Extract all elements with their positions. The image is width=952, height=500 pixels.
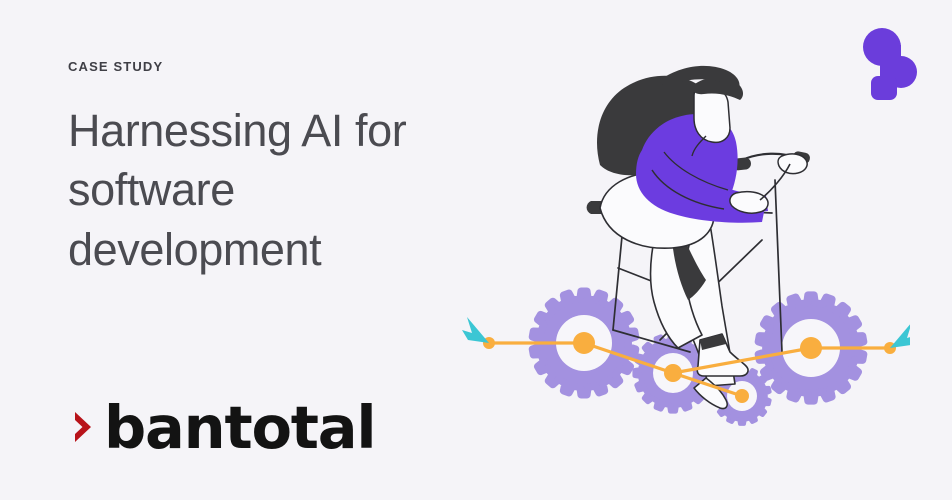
gear-large-left-hub-dot — [573, 332, 595, 354]
bantotal-wordmark: bantotal — [104, 398, 375, 457]
arrow-left-head — [462, 317, 489, 343]
gear-small-hub-dot — [735, 389, 749, 403]
chevron-right-icon — [70, 404, 98, 450]
page-title: Harnessing AI for software development — [68, 101, 498, 279]
text-column: CASE STUDY Harnessing AI for software de… — [68, 60, 498, 279]
eyebrow-label: CASE STUDY — [68, 60, 498, 73]
headline-line-2: software — [68, 164, 235, 215]
gear-medium-hub-dot — [664, 364, 682, 382]
gear-large-right-hub-dot — [800, 337, 822, 359]
bantotal-logo: bantotal — [70, 392, 375, 462]
illustration-woman-on-bicycle-over-gears — [440, 20, 910, 440]
headline-line-3: development — [68, 224, 321, 275]
headline-line-1: Harnessing AI for — [68, 105, 406, 156]
case-study-banner: CASE STUDY Harnessing AI for software de… — [0, 0, 952, 500]
